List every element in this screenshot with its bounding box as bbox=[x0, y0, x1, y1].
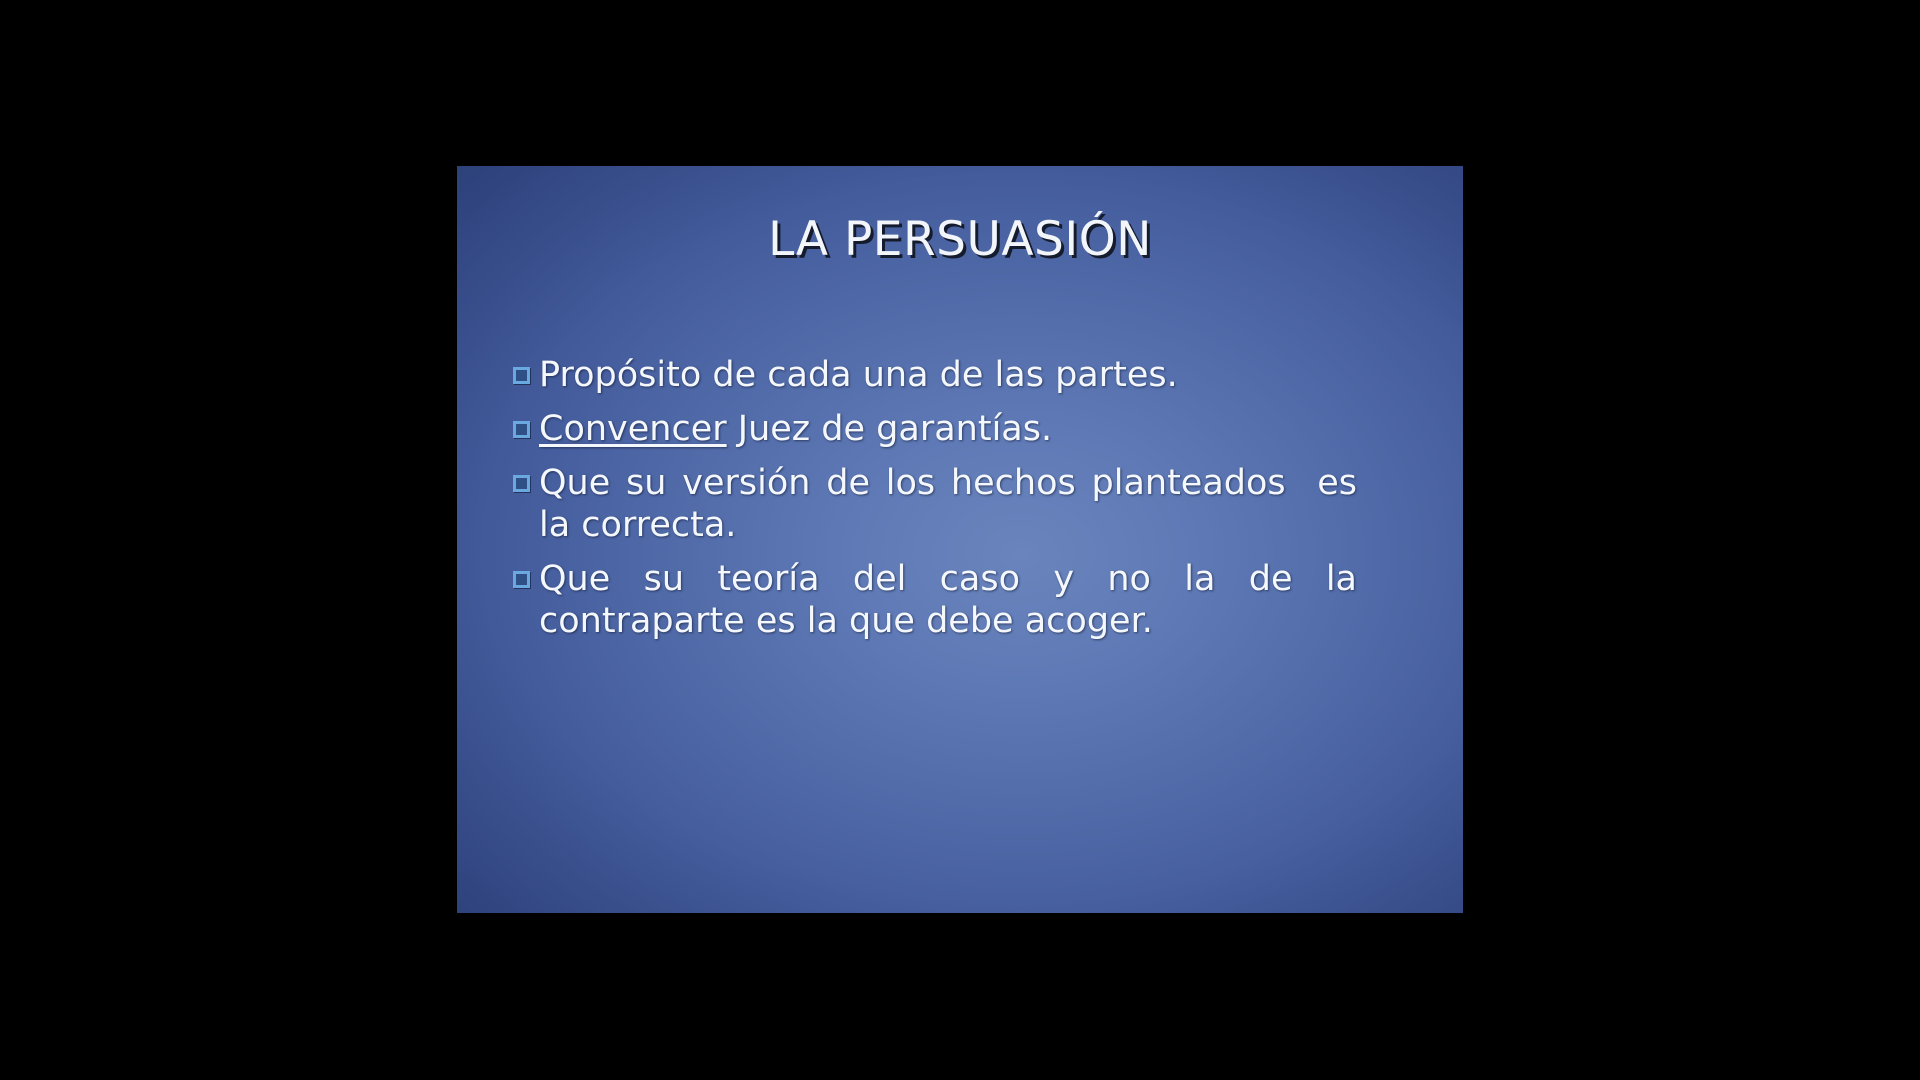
bullet-list: Propósito de cada una de las partes. Con… bbox=[513, 354, 1357, 654]
list-item-emphasis: Convencer bbox=[539, 409, 727, 449]
list-item-text: Convencer Juez de garantías. bbox=[539, 408, 1357, 450]
list-item-text: Propósito de cada una de las partes. bbox=[539, 354, 1357, 396]
presentation-slide: LA PERSUASIÓN Propósito de cada una de l… bbox=[457, 166, 1463, 913]
list-item: Propósito de cada una de las partes. bbox=[513, 354, 1357, 396]
page-title: LA PERSUASIÓN bbox=[457, 214, 1463, 266]
list-item-text: Que su versión de los hechos planteados … bbox=[539, 462, 1357, 546]
square-bullet-icon bbox=[513, 421, 530, 438]
list-item: Que su versión de los hechos planteados … bbox=[513, 462, 1357, 546]
square-bullet-icon bbox=[513, 571, 530, 588]
list-item-text: Que su teoría del caso y no la de la con… bbox=[539, 558, 1357, 642]
list-item: Que su teoría del caso y no la de la con… bbox=[513, 558, 1357, 642]
square-bullet-icon bbox=[513, 367, 530, 384]
slide-viewer: LA PERSUASIÓN Propósito de cada una de l… bbox=[0, 0, 1920, 1080]
list-item: Convencer Juez de garantías. bbox=[513, 408, 1357, 450]
list-item-text-rest: Juez de garantías. bbox=[727, 409, 1052, 449]
square-bullet-icon bbox=[513, 475, 530, 492]
